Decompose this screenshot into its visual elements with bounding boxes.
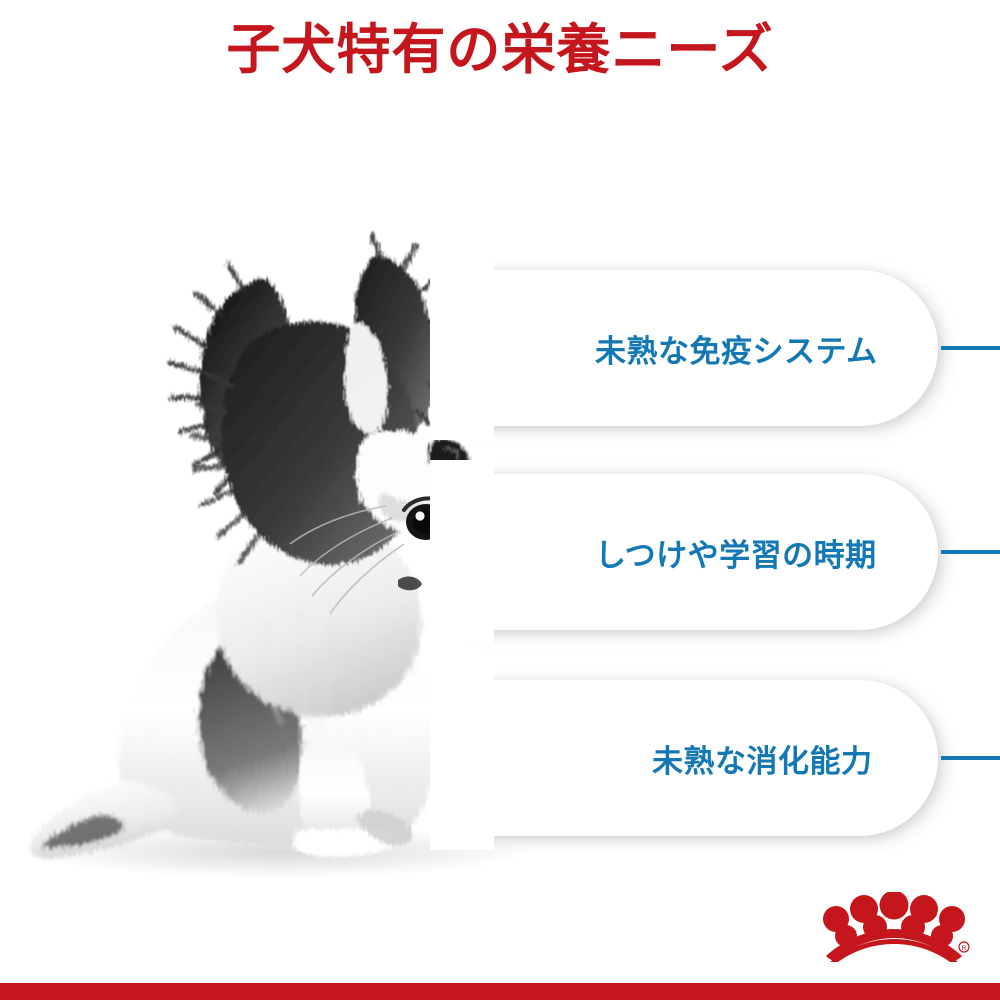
- feature-card-immune-system[interactable]: 未熟な免疫システム: [470, 270, 938, 426]
- connector-line-2: [941, 550, 1000, 554]
- connector-line-3: [941, 756, 1000, 760]
- footer-red-bar: [0, 983, 1000, 1000]
- page-title: 子犬特有の栄養ニーズ: [0, 22, 1000, 79]
- svg-text:R: R: [962, 945, 967, 952]
- connector-line-1: [941, 346, 1000, 350]
- marketing-infographic: 子犬特有の栄養ニーズ: [0, 0, 1000, 1000]
- feature-label: 未熟な消化能力: [652, 736, 873, 781]
- royal-canin-crown-logo: R: [818, 892, 970, 962]
- feature-card-training-period[interactable]: しつけや学習の時期: [470, 474, 938, 630]
- feature-label: 未熟な免疫システム: [595, 326, 878, 371]
- registered-mark-icon: R: [959, 942, 969, 952]
- feature-label: しつけや学習の時期: [595, 530, 877, 575]
- feature-card-digestion[interactable]: 未熟な消化能力: [470, 680, 938, 836]
